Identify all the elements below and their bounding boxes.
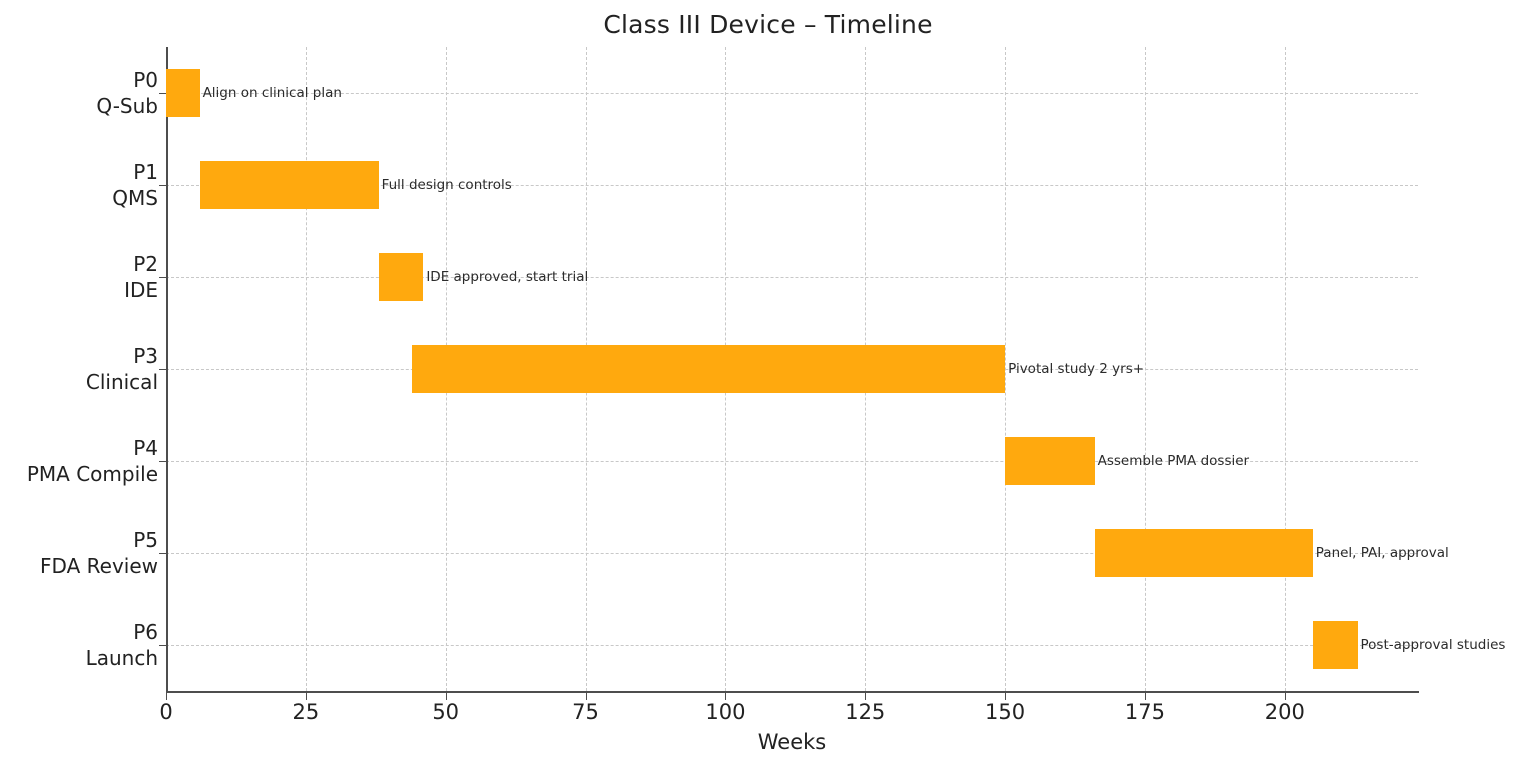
x-tick-mark — [446, 693, 447, 700]
gantt-bar[interactable] — [1005, 437, 1095, 485]
y-tick-label-p4: P4PMA Compile — [27, 435, 158, 487]
y-tick-code: P6 — [86, 619, 158, 645]
y-tick-code: P5 — [40, 527, 158, 553]
x-tick-label: 175 — [1125, 700, 1165, 724]
y-tick-mark — [159, 369, 166, 370]
y-tick-name: IDE — [124, 277, 158, 303]
y-tick-code: P2 — [124, 251, 158, 277]
x-tick-label: 75 — [572, 700, 599, 724]
y-tick-label-p1: P1QMS — [112, 159, 158, 211]
bar-annotation: Full design controls — [382, 177, 512, 193]
x-tick-label: 125 — [845, 700, 885, 724]
x-tick-label: 150 — [985, 700, 1025, 724]
y-axis-spine — [166, 47, 168, 692]
y-tick-name: Clinical — [86, 369, 158, 395]
bar-annotation: Pivotal study 2 yrs+ — [1008, 361, 1144, 377]
chart-title: Class III Device – Timeline — [0, 10, 1536, 39]
bar-annotation: Align on clinical plan — [203, 85, 342, 101]
x-axis-title-text: Weeks — [758, 730, 826, 754]
x-tick-mark — [865, 693, 866, 700]
bar-annotation: Panel, PAI, approval — [1316, 545, 1449, 561]
x-tick-mark — [586, 693, 587, 700]
y-tick-code: P1 — [112, 159, 158, 185]
gantt-bar[interactable] — [200, 161, 379, 209]
y-tick-name: PMA Compile — [27, 461, 158, 487]
x-tick-mark — [1285, 693, 1286, 700]
gridline-horizontal — [166, 277, 1418, 278]
bar-annotation: Post-approval studies — [1361, 637, 1506, 653]
y-tick-mark — [159, 461, 166, 462]
y-tick-label-p5: P5FDA Review — [40, 527, 158, 579]
x-axis-title: Weeks — [0, 730, 1536, 754]
y-tick-name: FDA Review — [40, 553, 158, 579]
gantt-bar[interactable] — [1313, 621, 1358, 669]
x-tick-label: 100 — [705, 700, 745, 724]
y-tick-mark — [159, 645, 166, 646]
y-tick-label-p6: P6Launch — [86, 619, 158, 671]
x-tick-mark — [725, 693, 726, 700]
x-tick-mark — [1145, 693, 1146, 700]
gantt-bar[interactable] — [166, 69, 200, 117]
x-tick-label: 50 — [432, 700, 459, 724]
x-tick-label: 0 — [159, 700, 172, 724]
y-tick-mark — [159, 185, 166, 186]
y-tick-label-p3: P3Clinical — [86, 343, 158, 395]
gantt-chart: Class III Device – Timeline Align on cli… — [0, 0, 1536, 768]
bar-annotation: IDE approved, start trial — [426, 269, 588, 285]
gantt-bar[interactable] — [412, 345, 1005, 393]
x-tick-mark — [166, 693, 167, 700]
y-tick-mark — [159, 553, 166, 554]
gantt-bar[interactable] — [379, 253, 424, 301]
y-tick-mark — [159, 277, 166, 278]
y-tick-code: P4 — [27, 435, 158, 461]
y-tick-mark — [159, 93, 166, 94]
x-tick-mark — [1005, 693, 1006, 700]
x-tick-label: 200 — [1265, 700, 1305, 724]
x-tick-label: 25 — [292, 700, 319, 724]
gridline-horizontal — [166, 93, 1418, 94]
y-tick-name: Q-Sub — [96, 93, 158, 119]
y-tick-code: P3 — [86, 343, 158, 369]
bar-annotation: Assemble PMA dossier — [1098, 453, 1250, 469]
y-tick-label-p0: P0Q-Sub — [96, 67, 158, 119]
x-axis-spine — [166, 691, 1419, 693]
gridline-horizontal — [166, 645, 1418, 646]
x-tick-mark — [306, 693, 307, 700]
y-tick-label-p2: P2IDE — [124, 251, 158, 303]
gantt-bar[interactable] — [1095, 529, 1313, 577]
y-tick-code: P0 — [96, 67, 158, 93]
y-tick-name: QMS — [112, 185, 158, 211]
y-tick-name: Launch — [86, 645, 158, 671]
